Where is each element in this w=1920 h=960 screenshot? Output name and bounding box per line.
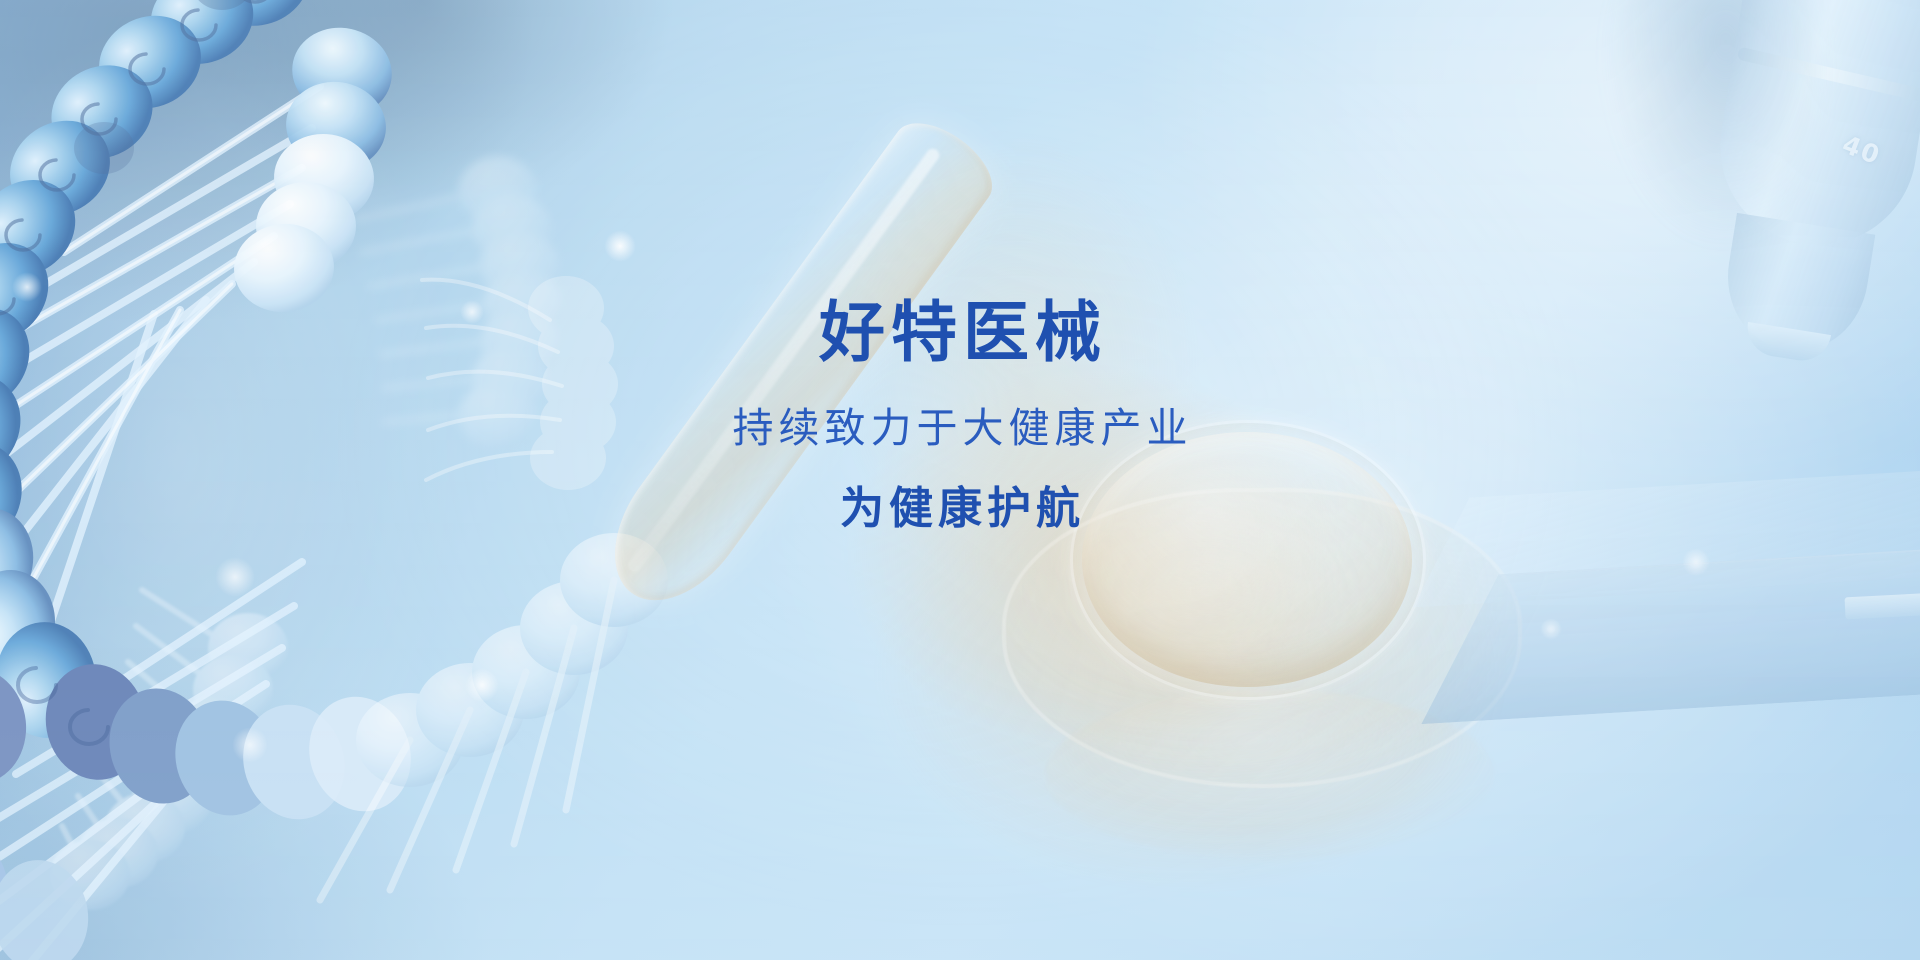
hero-subtitle: 持续致力于大健康产业 xyxy=(0,404,1920,453)
hero-banner: 40 好特医械 持续致力于大健康产业 为健康护航 xyxy=(0,0,1920,960)
bokeh-dot xyxy=(604,230,636,262)
bokeh-dot xyxy=(215,557,255,597)
page-title: 好特医械 xyxy=(0,296,1920,370)
hero-tagline: 为健康护航 xyxy=(0,483,1920,536)
bokeh-dot xyxy=(232,727,268,763)
bokeh-dot xyxy=(465,668,499,702)
hero-copy-block: 好特医械 持续致力于大健康产业 为健康护航 xyxy=(0,296,1920,536)
